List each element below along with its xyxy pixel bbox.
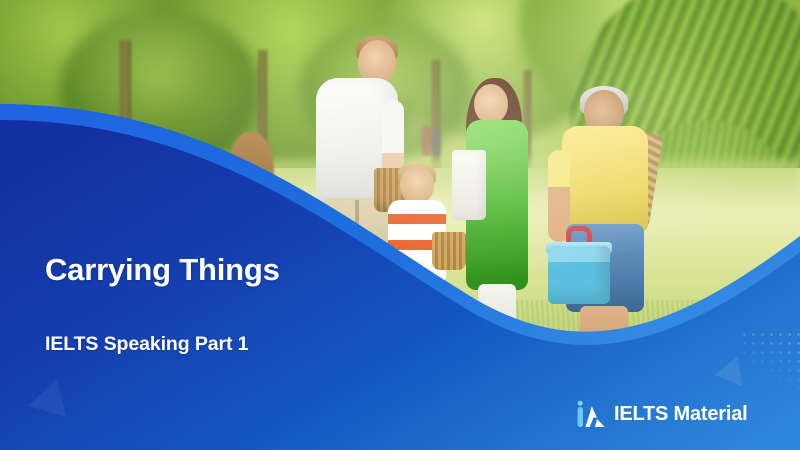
dot-grid-pattern-icon xyxy=(740,330,800,390)
ielts-material-logo-mark-icon xyxy=(575,400,605,428)
play-triangle-watermark-icon xyxy=(712,356,742,389)
brand-name: IELTS Material xyxy=(614,403,748,426)
brand-logo[interactable]: IELTS Material xyxy=(575,400,748,428)
banner-title: Carrying Things xyxy=(45,252,280,288)
blue-swoosh-overlay xyxy=(0,0,800,450)
banner-subtitle: IELTS Speaking Part 1 xyxy=(45,333,248,356)
ielts-banner: Carrying Things IELTS Speaking Part 1 IE… xyxy=(0,0,800,450)
